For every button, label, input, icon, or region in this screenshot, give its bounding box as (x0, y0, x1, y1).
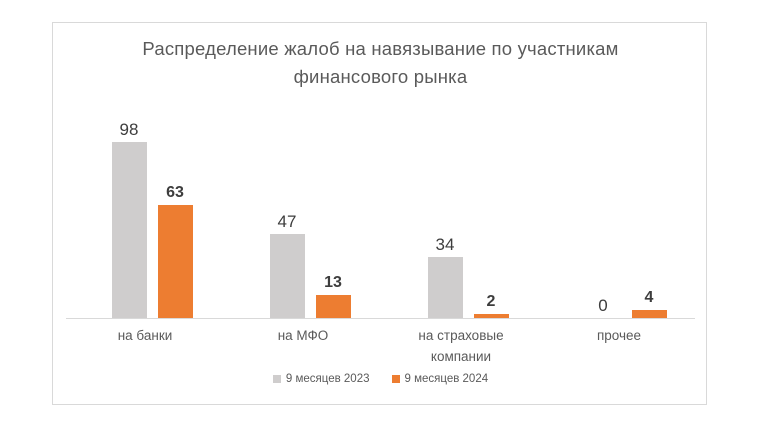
bar-2024-1[interactable] (316, 295, 351, 318)
bar-group-1: 47 13 на МФО (224, 23, 382, 318)
category-label-3: прочее (540, 325, 698, 346)
legend-label-2024: 9 месяцев 2024 (405, 373, 489, 385)
bar-value-2024-2: 2 (463, 293, 519, 310)
category-label-2: на страховые компании (382, 325, 540, 367)
bar-value-2023-1: 47 (259, 213, 315, 230)
bar-value-2024-0: 63 (147, 184, 203, 201)
legend-label-2023: 9 месяцев 2023 (286, 373, 370, 385)
plot-area: 98 63 на банки 47 13 на МФО 34 2 на стра… (53, 23, 708, 406)
chart-legend: 9 месяцев 2023 9 месяцев 2024 (53, 373, 708, 385)
category-label-1: на МФО (224, 325, 382, 346)
bar-group-3: 0 4 прочее (540, 23, 698, 318)
bar-2023-1[interactable] (270, 234, 305, 318)
bar-2023-2[interactable] (428, 257, 463, 318)
bar-2023-0[interactable] (112, 142, 147, 318)
category-label-0: на банки (66, 325, 224, 346)
legend-entry-2023[interactable]: 9 месяцев 2023 (273, 373, 370, 385)
bar-2024-3[interactable] (632, 310, 667, 318)
bar-2024-2[interactable] (474, 314, 509, 318)
legend-swatch-2023 (273, 375, 281, 383)
legend-swatch-2024 (392, 375, 400, 383)
bar-2024-0[interactable] (158, 205, 193, 318)
bar-value-2023-2: 34 (417, 236, 473, 253)
category-axis-line (66, 318, 695, 319)
bar-group-2: 34 2 на страховые компании (382, 23, 540, 318)
bar-value-2023-0: 98 (101, 121, 157, 138)
legend-entry-2024[interactable]: 9 месяцев 2024 (392, 373, 489, 385)
bar-value-2024-3: 4 (621, 289, 677, 306)
bar-value-2024-1: 13 (305, 274, 361, 291)
chart-card: Распределение жалоб на навязывание по уч… (52, 22, 707, 405)
bar-group-0: 98 63 на банки (66, 23, 224, 318)
